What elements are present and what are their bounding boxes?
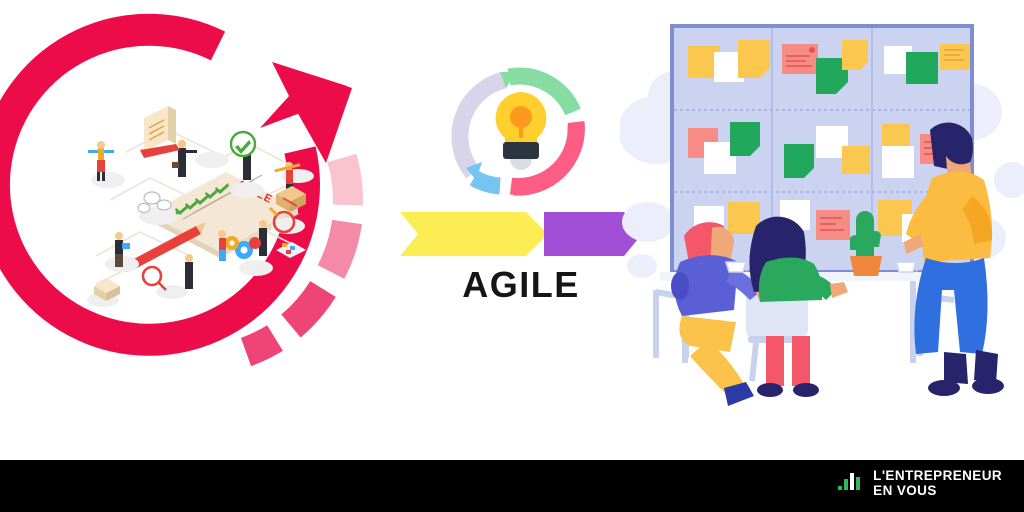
brand-line-2: EN VOUS: [873, 484, 1002, 499]
sticky-note: [738, 40, 770, 78]
kanban-team-svg: [620, 0, 1024, 460]
sticky-note: [842, 40, 868, 70]
sticky-note-card: [782, 44, 818, 74]
bar-chart-logo-icon: [838, 471, 864, 497]
kanban-team-illustration: [620, 0, 1024, 460]
agile-badge-svg: [396, 0, 646, 260]
footer-bar: L'ENTREPRENEUR EN VOUS: [0, 460, 1024, 512]
poster-canvas: AGILE: [0, 0, 1024, 512]
banner-left: [400, 212, 548, 256]
agile-title: AGILE: [396, 264, 646, 306]
agile-badge: AGILE: [396, 0, 646, 460]
sticky-note: [842, 146, 870, 174]
entrepreneur-logo[interactable]: L'ENTREPRENEUR EN VOUS: [838, 469, 1002, 498]
sticky-note: [882, 146, 914, 178]
agile-cycle-illustration: AGILE: [0, 0, 400, 460]
brand-line-1: L'ENTREPRENEUR: [873, 469, 1002, 484]
sticky-note-card: [940, 44, 970, 70]
sticky-note: [906, 52, 938, 84]
agile-cycle-svg: AGILE: [0, 0, 400, 460]
magnifier-icon: [143, 267, 166, 290]
document-icon: [140, 106, 180, 158]
sticky-note-card: [816, 210, 850, 240]
